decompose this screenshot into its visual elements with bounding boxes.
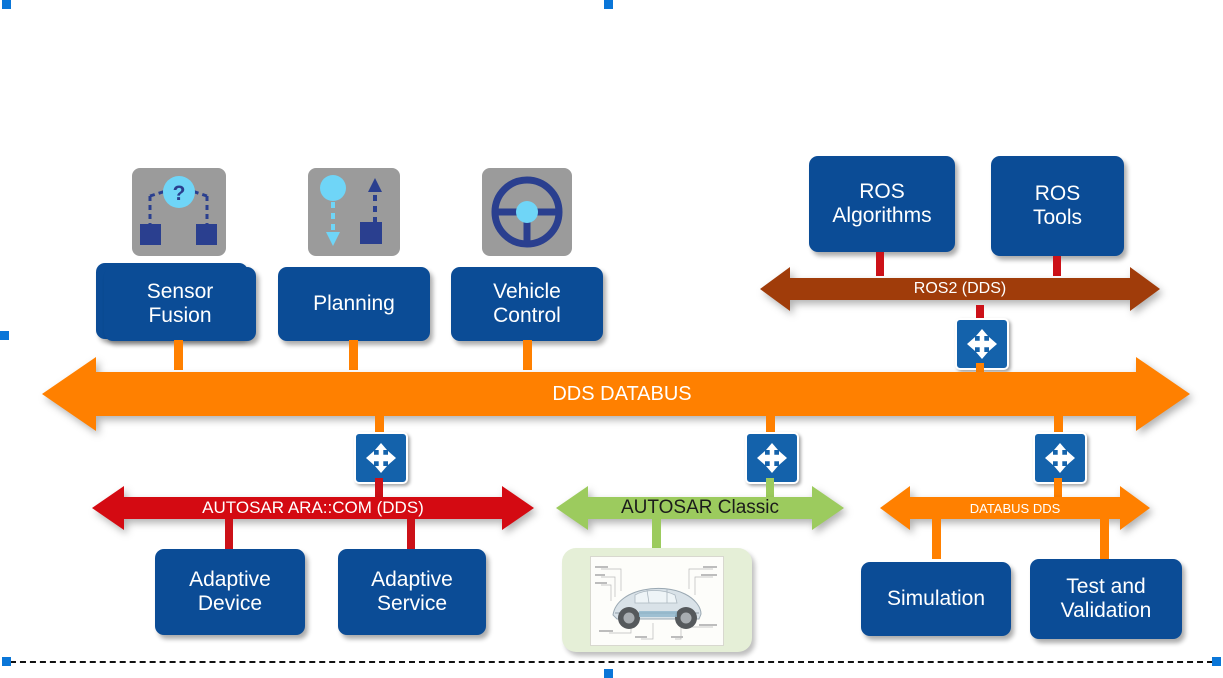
bus-ros2[interactable]: ROS2 (DDS) [760, 265, 1160, 313]
node-label-line2: Device [189, 592, 271, 616]
selection-handle-top-center[interactable] [604, 0, 613, 9]
bus-label-main: DDS DATABUS [552, 383, 691, 406]
connector-mainbus-to-router-test [1054, 412, 1063, 434]
bus-main-dds-databus[interactable]: DDS DATABUS [42, 355, 1190, 433]
node-label-line1: Planning [313, 292, 395, 316]
sensor-fusion-icon-tile: ? [132, 168, 226, 256]
selection-handle-middle-left[interactable] [0, 331, 9, 340]
steering-wheel-icon-tile [482, 168, 572, 256]
node-label-line1: Adaptive [189, 568, 271, 592]
vehicle-image-panel[interactable] [562, 548, 752, 652]
node-simulation[interactable]: Simulation [861, 562, 1011, 636]
svg-text:?: ? [173, 182, 186, 205]
node-ros-tools[interactable]: ROS Tools [991, 156, 1124, 256]
node-label-line1: Simulation [887, 587, 985, 611]
node-label-line2: Service [371, 592, 453, 616]
node-label-line1: Test and [1061, 575, 1152, 599]
steering-wheel-icon [482, 168, 572, 256]
connector-aracom-to-adaptive-device [225, 519, 233, 550]
slide-canvas: ? Sensor Fusion Pl [0, 0, 1223, 678]
node-label-line1: ROS [1033, 182, 1082, 206]
node-test-and-validation[interactable]: Test and Validation [1030, 559, 1182, 639]
planning-icon [308, 168, 400, 256]
bus-label-ros2: ROS2 (DDS) [914, 280, 1006, 298]
node-label-line1: Adaptive [371, 568, 453, 592]
sensor-fusion-icon: ? [132, 168, 226, 256]
node-planning[interactable]: Planning [278, 267, 430, 341]
connector-databusdds-to-simulation [932, 519, 941, 559]
node-adaptive-device[interactable]: Adaptive Device [155, 549, 305, 635]
node-ros-algorithms[interactable]: ROS Algorithms [809, 156, 955, 252]
connector-mainbus-to-router-adaptive [375, 412, 384, 434]
bus-label-ara-com: AUTOSAR ARA::COM (DDS) [202, 498, 424, 518]
connector-mainbus-to-router-classic [766, 412, 775, 434]
selection-handle-bottom-center[interactable] [604, 669, 613, 678]
node-label-line2: Tools [1033, 206, 1082, 230]
connector-aracom-to-adaptive-service [407, 519, 415, 550]
connector-autosar-classic-to-car [652, 519, 661, 549]
four-way-arrows-icon [1043, 442, 1077, 474]
dds-router-classic[interactable] [745, 432, 799, 484]
node-label-line2: Algorithms [832, 204, 931, 228]
bus-autosar-classic[interactable]: AUTOSAR Classic [556, 483, 844, 533]
car-cutaway-icon [591, 557, 723, 645]
node-label-line1: Vehicle [493, 280, 561, 304]
four-way-arrows-icon [364, 442, 398, 474]
node-label-line2: Fusion [147, 304, 214, 328]
planning-icon-tile [308, 168, 400, 256]
bus-autosar-ara-com[interactable]: AUTOSAR ARA::COM (DDS) [92, 483, 534, 533]
vehicle-cutaway-image [590, 556, 724, 646]
node-sensor-fusion[interactable]: Sensor Fusion [104, 267, 256, 341]
dds-router-test[interactable] [1033, 432, 1087, 484]
selection-handle-bottom-left[interactable] [2, 657, 11, 666]
selection-handle-bottom-right[interactable] [1212, 657, 1221, 666]
node-label-line1: ROS [832, 180, 931, 204]
bus-label-autosar-classic: AUTOSAR Classic [621, 497, 779, 519]
bus-databus-dds[interactable]: DATABUS DDS [880, 483, 1150, 533]
node-label-line1: Sensor [147, 280, 214, 304]
node-vehicle-control[interactable]: Vehicle Control [451, 267, 603, 341]
four-way-arrows-icon [755, 442, 789, 474]
node-adaptive-service[interactable]: Adaptive Service [338, 549, 486, 635]
node-label-line2: Validation [1061, 599, 1152, 623]
bus-label-databus-dds: DATABUS DDS [970, 501, 1061, 516]
node-label-line2: Control [493, 304, 561, 328]
connector-databusdds-to-test-validation [1100, 519, 1109, 559]
selection-handle-top-left[interactable] [2, 0, 11, 9]
dds-router-adaptive[interactable] [354, 432, 408, 484]
